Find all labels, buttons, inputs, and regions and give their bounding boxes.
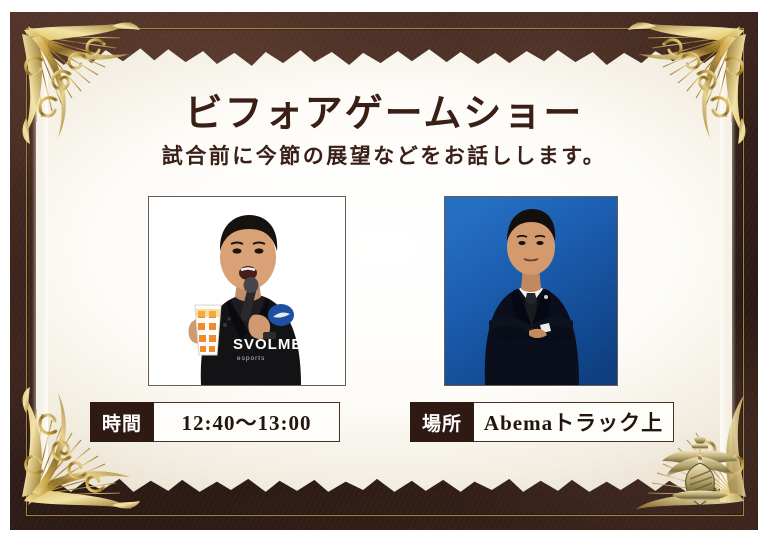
page-subtitle: 試合前に今節の展望などをお話しします。	[0, 140, 768, 170]
info-value-time: 12:40〜13:00	[154, 402, 340, 442]
info-row: 時間 12:40〜13:00 場所 Abemaトラック上	[0, 402, 768, 444]
poster-root: ビフォアゲームショー 試合前に今節の展望などをお話しします。	[0, 0, 768, 543]
info-item-time: 時間 12:40〜13:00	[90, 402, 340, 442]
photo-speaker-with-microphone: SVOLME esports	[148, 196, 346, 386]
info-item-place: 場所 Abemaトラック上	[410, 402, 674, 442]
page-title: ビフォアゲームショー	[0, 82, 768, 137]
photo-man-in-suit	[444, 196, 618, 386]
info-value-place: Abemaトラック上	[474, 402, 674, 442]
info-label-time: 時間	[90, 402, 154, 442]
info-label-place: 場所	[410, 402, 474, 442]
svg-text:esports: esports	[237, 355, 265, 362]
